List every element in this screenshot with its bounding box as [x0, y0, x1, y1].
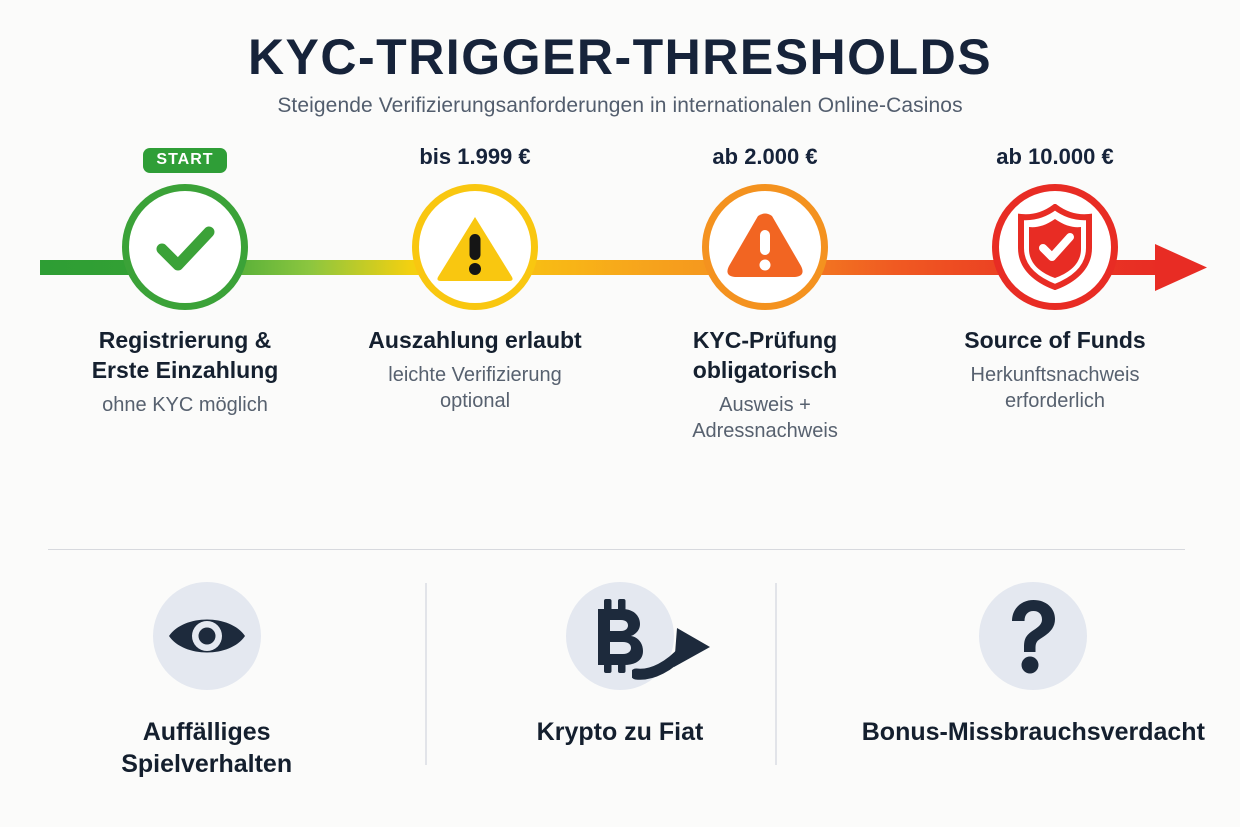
trigger-item-crypto-to-fiat[interactable]: Krypto zu Fiat: [413, 570, 826, 748]
trigger-item-suspicious-play[interactable]: Auffälliges Spielverhalten: [0, 570, 413, 780]
node-subtitle-1: ohne KYC möglich: [40, 392, 330, 418]
trigger-divider-2: [775, 583, 777, 765]
timeline-node-kyc-mandatory[interactable]: ab 2.000 € KYC-Prüfung obligatorisch Aus…: [620, 140, 910, 445]
node-cap-4: ab 10.000 €: [996, 140, 1113, 174]
node-icon-ring-4: [992, 184, 1118, 310]
node-text-1: Registrierung & Erste Einzahlung ohne KY…: [40, 326, 330, 418]
section-divider: [48, 549, 1185, 550]
trigger-label-2: Krypto zu Fiat: [537, 716, 704, 748]
check-circle-icon: [146, 208, 224, 286]
arrow-right-icon: [632, 624, 718, 684]
trigger-label-1: Auffälliges Spielverhalten: [121, 716, 292, 780]
node-subtitle-2: leichte Verifizierung optional: [330, 362, 620, 415]
node-icon-ring-3: [702, 184, 828, 310]
trigger-item-bonus-abuse[interactable]: Bonus-Missbrauchsverdacht: [827, 570, 1240, 748]
node-title-1: Registrierung & Erste Einzahlung: [40, 326, 330, 386]
eye-icon: [164, 608, 250, 664]
additional-triggers: Auffälliges Spielverhalten Krypto zu Fia…: [0, 570, 1240, 790]
page-subtitle: Steigende Verifizierungsanforderungen in…: [0, 94, 1240, 118]
node-text-4: Source of Funds Herkunftsnachweis erford…: [910, 326, 1200, 415]
page-title: KYC-TRIGGER-THRESHOLDS: [0, 30, 1240, 84]
warning-triangle-icon: [434, 209, 516, 285]
node-text-2: Auszahlung erlaubt leichte Verifizierung…: [330, 326, 620, 415]
node-subtitle-3: Ausweis + Adressnachweis: [620, 392, 910, 445]
shield-check-icon: [1015, 204, 1095, 290]
trigger-divider-1: [425, 583, 427, 765]
warning-triangle-icon: [724, 210, 806, 284]
node-title-2: Auszahlung erlaubt: [330, 326, 620, 356]
trigger-icon-bg-2: [566, 582, 674, 690]
kyc-timeline: START Registrierung & Erste Einzahlung o…: [0, 140, 1240, 500]
timeline-node-payout-allowed[interactable]: bis 1.999 € Auszahlung erlaubt leichte V…: [330, 140, 620, 445]
node-title-3: KYC-Prüfung obligatorisch: [620, 326, 910, 386]
timeline-nodes: START Registrierung & Erste Einzahlung o…: [0, 140, 1240, 445]
question-mark-icon: [1005, 598, 1061, 674]
node-cap-1: START: [143, 140, 226, 174]
node-subtitle-4: Herkunftsnachweis erforderlich: [910, 362, 1200, 415]
node-cap-2: bis 1.999 €: [419, 140, 530, 174]
node-icon-ring-1: [122, 184, 248, 310]
timeline-node-source-of-funds[interactable]: ab 10.000 € Source of Funds Herkunftsnac…: [910, 140, 1200, 445]
node-cap-3: ab 2.000 €: [712, 140, 817, 174]
infographic-header: KYC-TRIGGER-THRESHOLDS Steigende Verifiz…: [0, 0, 1240, 118]
start-badge: START: [143, 148, 226, 173]
trigger-icon-bg-1: [153, 582, 261, 690]
node-icon-ring-2: [412, 184, 538, 310]
timeline-node-registration[interactable]: START Registrierung & Erste Einzahlung o…: [40, 140, 330, 445]
node-text-3: KYC-Prüfung obligatorisch Ausweis + Adre…: [620, 326, 910, 445]
node-title-4: Source of Funds: [910, 326, 1200, 356]
trigger-label-3: Bonus-Missbrauchsverdacht: [862, 716, 1205, 748]
trigger-icon-bg-3: [979, 582, 1087, 690]
